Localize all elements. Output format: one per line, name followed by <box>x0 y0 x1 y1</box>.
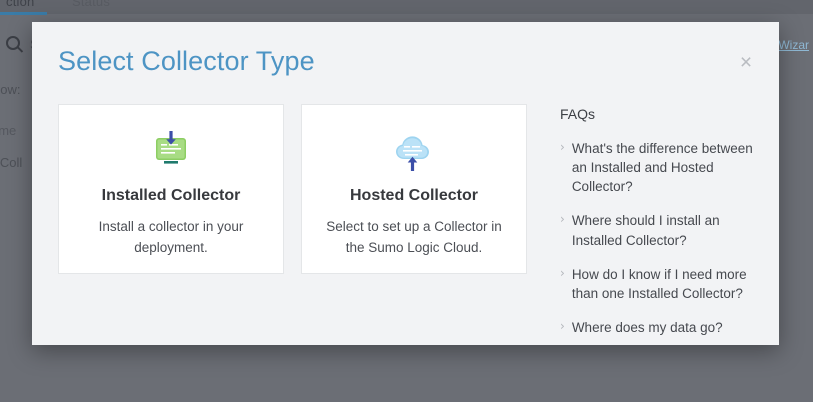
chevron-right-icon: › <box>560 318 565 335</box>
faq-item[interactable]: › Where should I install an Installed Co… <box>560 211 755 249</box>
faq-panel: FAQs › What's the difference between an … <box>560 104 755 352</box>
collector-card-title: Hosted Collector <box>350 187 478 205</box>
background-tab-status[interactable]: Status <box>72 0 110 9</box>
faq-item-label: How do I know if I need more than one In… <box>572 265 755 303</box>
background-setup-wizard-link[interactable]: Wizar <box>778 38 809 52</box>
monitor-download-icon <box>148 129 194 175</box>
collector-card-hosted[interactable]: Hosted Collector Select to set up a Coll… <box>301 104 527 274</box>
faq-item[interactable]: › How do I know if I need more than one … <box>560 265 755 303</box>
collector-card-description: Install a collector in your deployment. <box>81 217 261 258</box>
select-collector-type-dialog: × Select Collector Type <box>32 22 779 345</box>
dialog-body: Installed Collector Install a collector … <box>58 104 755 352</box>
chevron-right-icon: › <box>560 139 565 156</box>
background-tab-collection[interactable]: ction <box>6 0 34 9</box>
faq-heading: FAQs <box>560 106 755 122</box>
background-empty-state-text: o Coll <box>0 155 22 170</box>
faq-item-label: What's the difference between an Install… <box>572 139 755 196</box>
cloud-upload-icon <box>391 129 437 175</box>
faq-item-label: Where should I install an Installed Coll… <box>572 211 755 249</box>
collector-card-installed[interactable]: Installed Collector Install a collector … <box>58 104 284 274</box>
collector-type-options: Installed Collector Install a collector … <box>58 104 527 352</box>
page-title: Select Collector Type <box>58 46 315 77</box>
chevron-right-icon: › <box>560 211 565 228</box>
faq-item-label: Where does my data go? <box>572 318 723 337</box>
close-icon[interactable]: × <box>735 52 757 74</box>
search-icon[interactable] <box>6 36 20 50</box>
chevron-right-icon: › <box>560 265 565 282</box>
faq-item[interactable]: › Where does my data go? <box>560 318 755 337</box>
background-show-filter-label: how: <box>0 82 20 97</box>
collector-card-description: Select to set up a Collector in the Sumo… <box>324 217 504 258</box>
background-tab-strip: ction Status <box>0 0 813 14</box>
collector-card-title: Installed Collector <box>102 187 241 205</box>
background-active-tab-underline <box>0 12 47 15</box>
background-name-column-header: ame <box>0 123 16 138</box>
faq-item[interactable]: › What's the difference between an Insta… <box>560 139 755 196</box>
